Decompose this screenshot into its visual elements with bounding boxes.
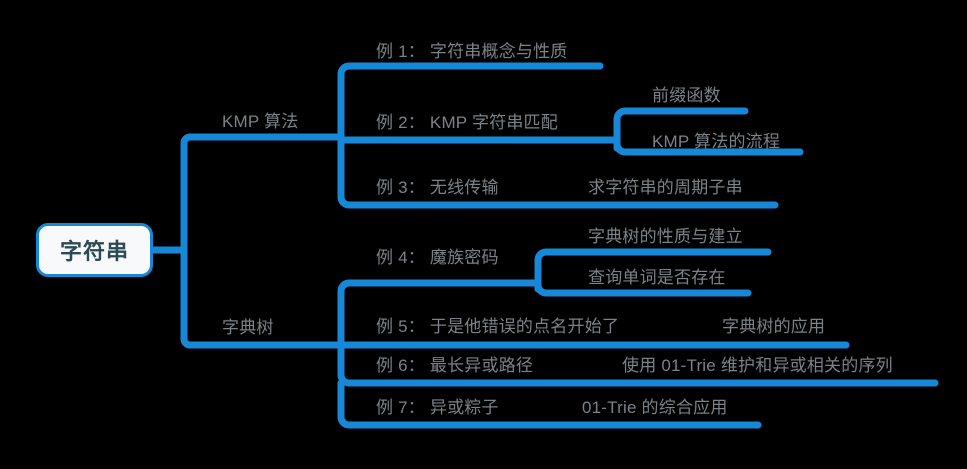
- root-node-label: 字符串: [60, 234, 129, 266]
- mindmap-canvas: 字符串 KMP 算法 字典树 例 1： 字符串概念与性质 例 2： KMP 字符…: [0, 0, 967, 469]
- node-label-ex5[interactable]: 例 5： 于是他错误的点名开始了: [376, 317, 619, 337]
- node-label-ex4-word-query[interactable]: 查询单词是否存在: [588, 268, 726, 288]
- node-label-ex4[interactable]: 例 4： 魔族密码: [376, 248, 499, 268]
- node-label-ex4-trie-properties[interactable]: 字典树的性质与建立: [588, 227, 743, 247]
- node-label-ex2-kmp-flow[interactable]: KMP 算法的流程: [652, 132, 780, 152]
- node-label-ex2[interactable]: 例 2： KMP 字符串匹配: [376, 113, 558, 133]
- node-label-ex3-period-substring[interactable]: 求字符串的周期子串: [588, 178, 743, 198]
- ex2-to-prefix-function: [617, 111, 745, 132]
- node-label-ex2-prefix-function[interactable]: 前缀函数: [652, 86, 721, 106]
- node-label-ex7[interactable]: 例 7： 异或粽子: [376, 398, 499, 418]
- node-label-ex1[interactable]: 例 1： 字符串概念与性质: [376, 42, 568, 62]
- node-label-ex5-trie-application[interactable]: 字典树的应用: [722, 317, 825, 337]
- node-label-ex6[interactable]: 例 6： 最长异或路径: [376, 356, 533, 376]
- branch-label-trie[interactable]: 字典树: [222, 318, 274, 338]
- branch-label-kmp[interactable]: KMP 算法: [222, 112, 298, 132]
- spine-to-kmp: [184, 137, 341, 250]
- root-node[interactable]: 字符串: [36, 223, 153, 277]
- node-label-ex7-01trie-comprehensive[interactable]: 01-Trie 的综合应用: [582, 398, 728, 418]
- node-label-ex3[interactable]: 例 3： 无线传输: [376, 178, 499, 198]
- node-label-ex6-01trie-sequence[interactable]: 使用 01-Trie 维护和异或相关的序列: [622, 356, 893, 376]
